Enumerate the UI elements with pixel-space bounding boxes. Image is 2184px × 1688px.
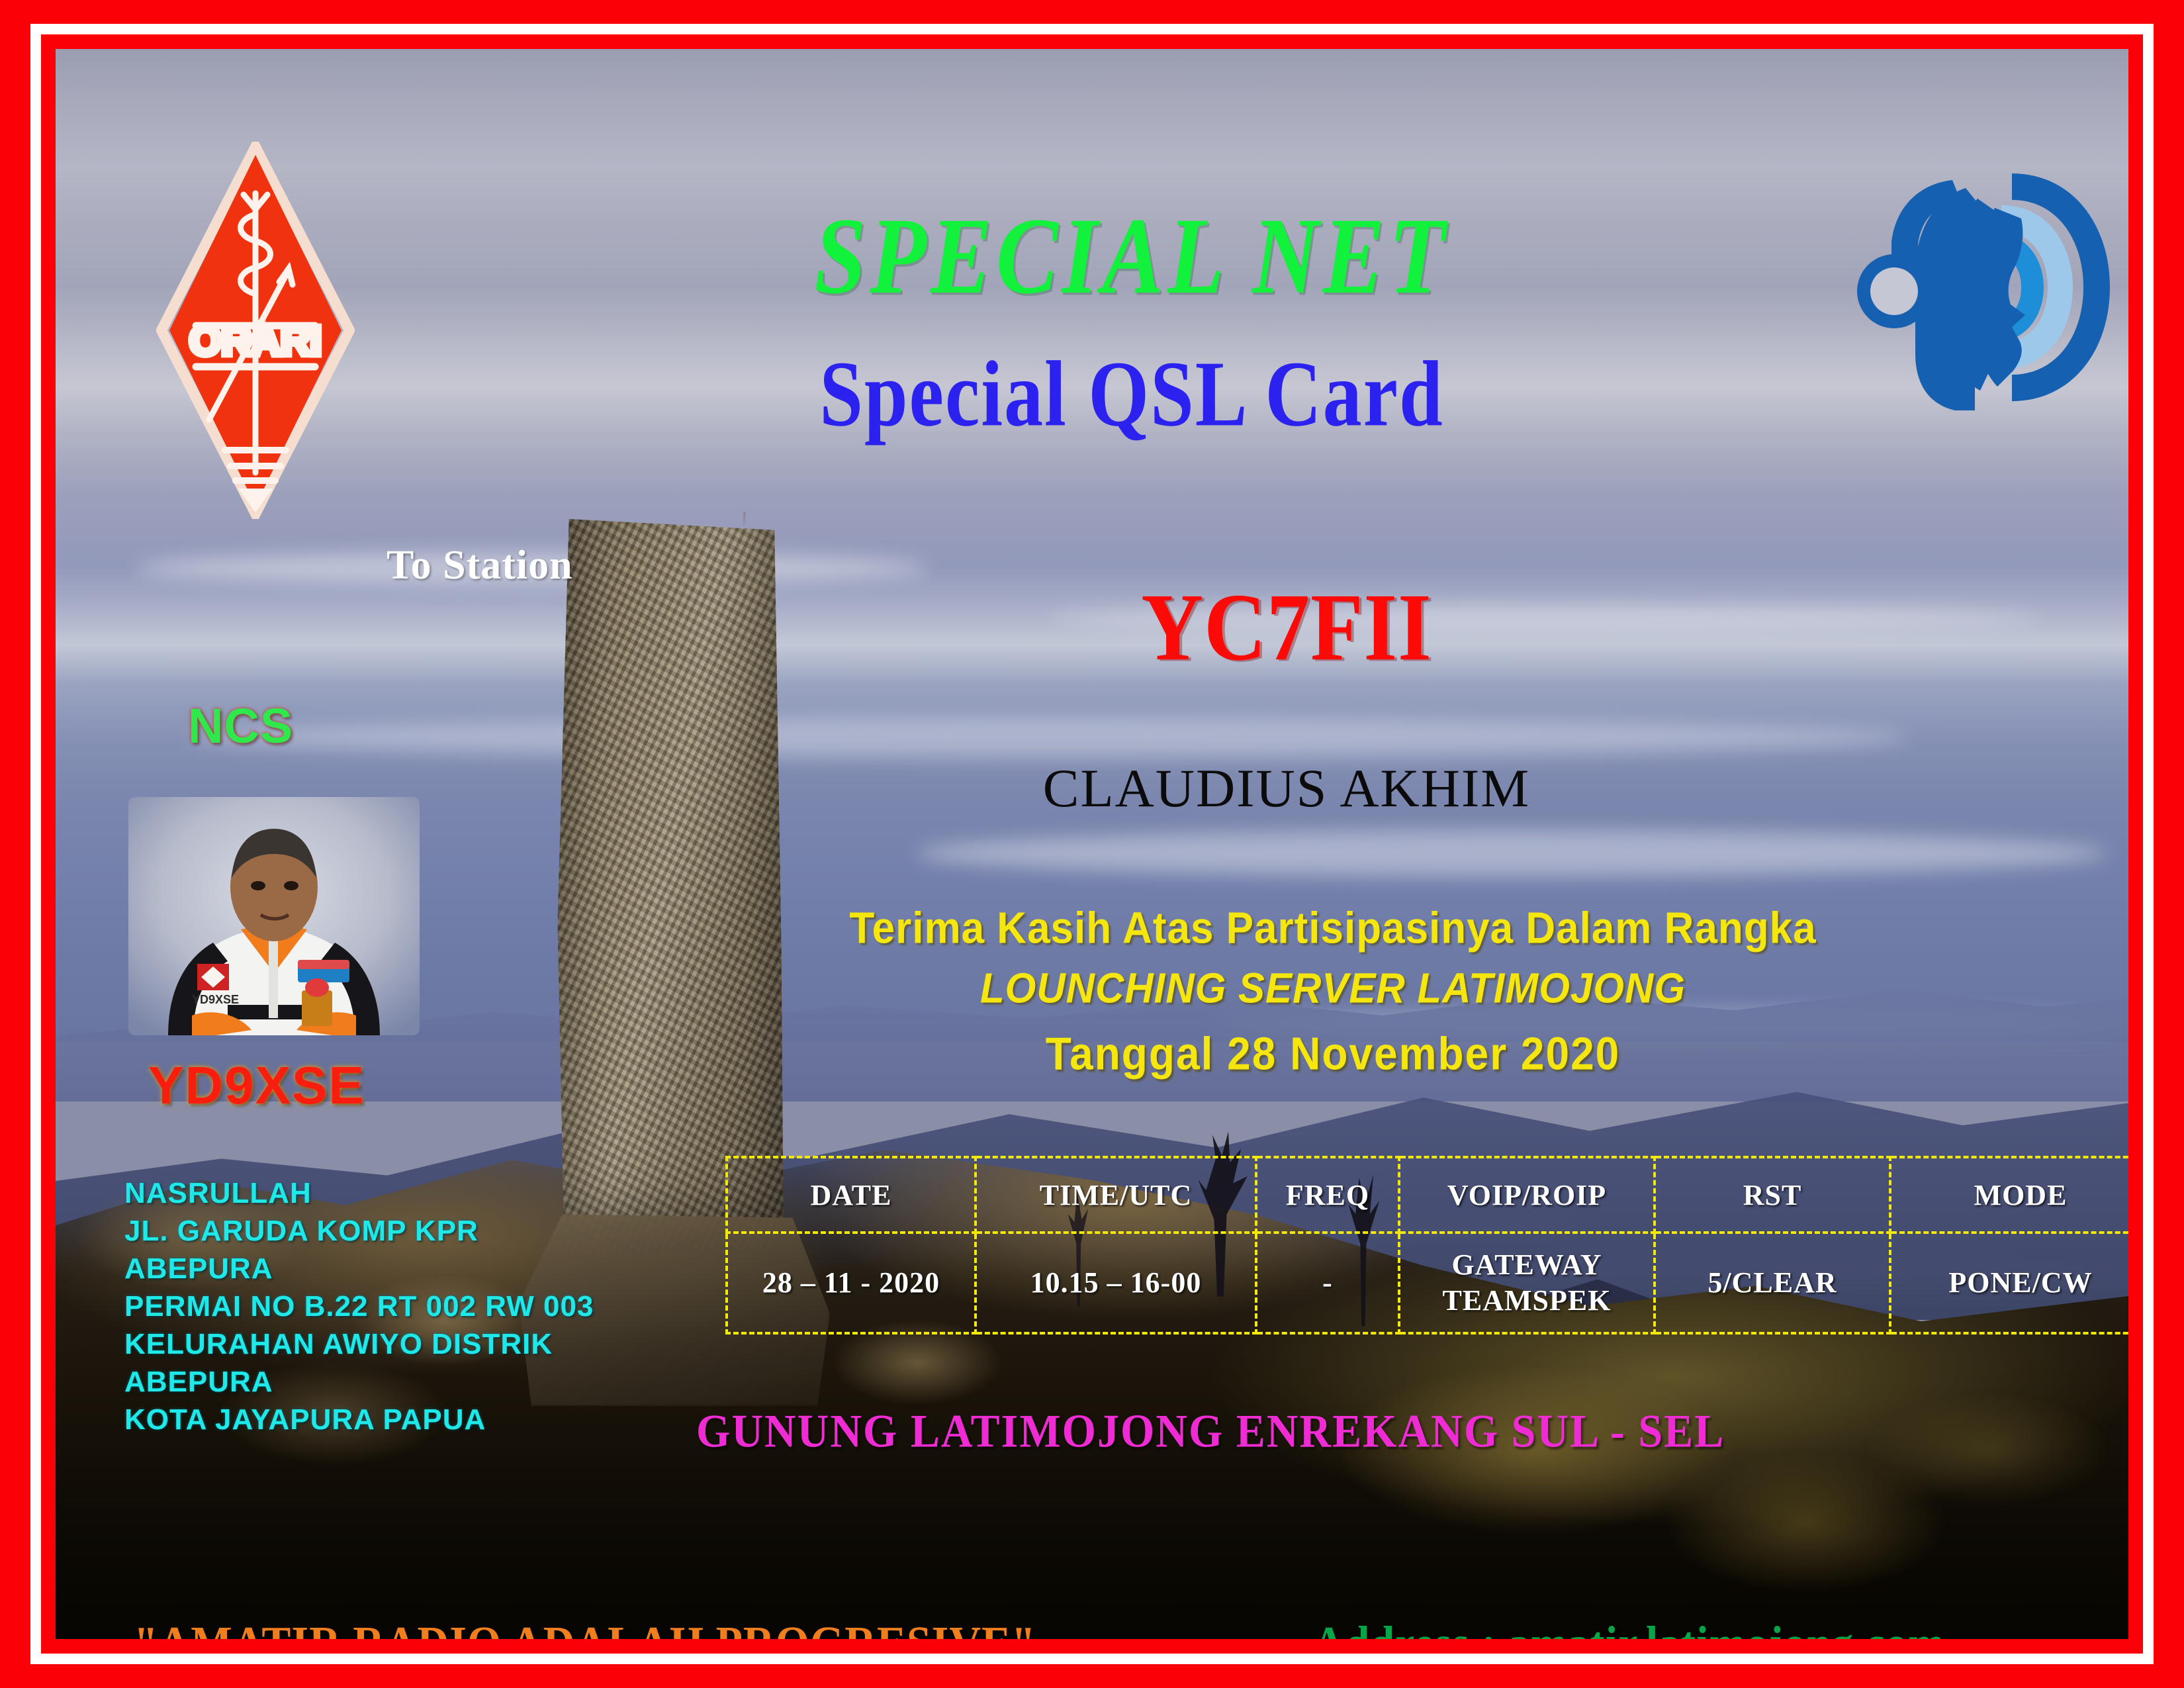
column-header-date: DATE (727, 1157, 976, 1233)
club-motto: "AMATIR RADIO ADALAH PROGRESIVE" (134, 1617, 1036, 1639)
qsl-card-outer-frame: ORARI SPECIAL NET Special QSL Card To St… (0, 0, 2184, 1688)
address-line: KOTA JAYAPURA PAPUA (124, 1401, 594, 1438)
cell-time: 10.15 – 16-00 (976, 1233, 1256, 1333)
address-line: ABEPURA (124, 1250, 594, 1288)
operator-name: CLAUDIUS AKHIM (889, 757, 1684, 820)
page-title: SPECIAL NET (56, 193, 2128, 319)
cell-freq: - (1256, 1233, 1399, 1333)
uniform-badge-text: YD9XSE (192, 993, 239, 1006)
cell-date: 28 – 11 - 2020 (727, 1233, 976, 1333)
cloud-band (916, 830, 2107, 876)
address-line: ABEPURA (124, 1363, 594, 1401)
column-header-rst: RST (1655, 1157, 1890, 1233)
to-station-label: To Station (387, 542, 573, 589)
ncs-callsign: YD9XSE (148, 1055, 365, 1116)
page-subtitle: Special QSL Card (56, 340, 2128, 448)
location-caption: GUNUNG LATIMOJONG ENREKANG SUL - SEL (696, 1405, 1725, 1459)
qso-log-table: DATE TIME/UTC FREQ VOIP/ROIP RST MODE 28… (725, 1156, 2128, 1335)
stone-monument-pillar (555, 519, 784, 1254)
cell-voip: GATEWAYTEAMSPEK (1399, 1233, 1655, 1333)
cell-mode: PONE/CW (1890, 1233, 2128, 1333)
station-callsign: YC7FII (1028, 572, 1545, 683)
event-title: LOUNCHING SERVER LATIMOJONG (803, 964, 1862, 1012)
column-header-time: TIME/UTC (976, 1157, 1256, 1233)
address-line: NASRULLAH (124, 1174, 594, 1212)
cloud-band (188, 718, 1909, 757)
ncs-operator-photo: YD9XSE (128, 797, 420, 1035)
table-header-row: DATE TIME/UTC FREQ VOIP/ROIP RST MODE (727, 1157, 2128, 1233)
cell-rst: 5/CLEAR (1655, 1233, 1890, 1333)
address-line: KELURAHAN AWIYO DISTRIK (124, 1325, 594, 1363)
address-line: PERMAI NO B.22 RT 002 RW 003 (124, 1288, 594, 1325)
mailing-address: NASRULLAH JL. GARUDA KOMP KPR ABEPURA PE… (124, 1174, 594, 1438)
column-header-mode: MODE (1890, 1157, 2128, 1233)
event-date: Tanggal 28 November 2020 (803, 1027, 1862, 1080)
monument-top-wisp (744, 512, 830, 552)
column-header-voip: VOIP/ROIP (1399, 1157, 1655, 1233)
card-photo-background: ORARI SPECIAL NET Special QSL Card To St… (56, 49, 2128, 1639)
column-header-freq: FREQ (1256, 1157, 1399, 1233)
thanks-message: Terima Kasih Atas Partisipasinya Dalam R… (803, 903, 1862, 954)
table-row: 28 – 11 - 2020 10.15 – 16-00 - GATEWAYTE… (727, 1233, 2128, 1333)
address-line: JL. GARUDA KOMP KPR (124, 1212, 594, 1250)
web-address: Address : amatir.latimojong.com (1313, 1617, 1945, 1639)
ncs-label: NCS (188, 698, 293, 754)
